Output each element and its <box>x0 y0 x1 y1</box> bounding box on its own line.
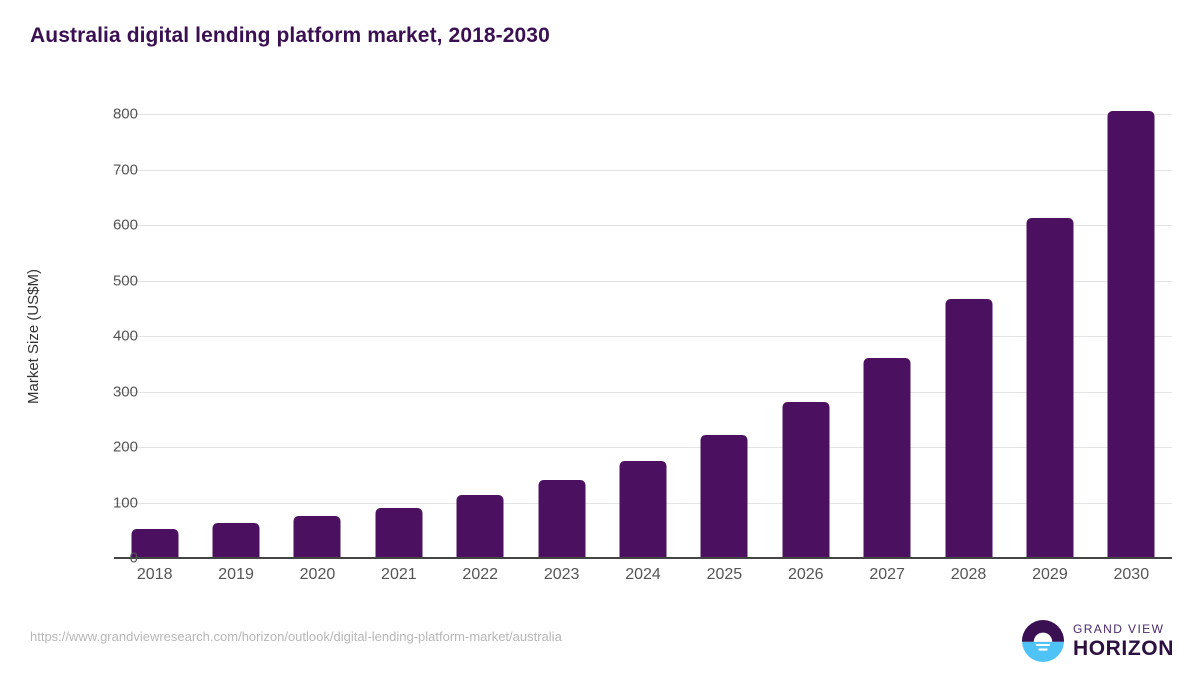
bar-2021[interactable] <box>375 508 422 559</box>
bar-2020[interactable] <box>294 516 341 558</box>
bar-slot <box>195 114 276 558</box>
x-axis-tick-label: 2026 <box>761 566 851 584</box>
y-axis-tick-label: 0 <box>78 550 138 567</box>
x-axis-tick-label: 2019 <box>191 566 281 584</box>
bar-slot <box>358 114 439 558</box>
logo-line-2: HORIZON <box>1073 638 1174 659</box>
bar-2018[interactable] <box>131 529 178 558</box>
logo-text: GRAND VIEW HORIZON <box>1073 623 1174 659</box>
y-axis-tick-label: 400 <box>78 328 138 345</box>
x-axis-tick-label: 2020 <box>272 566 362 584</box>
x-axis-tick-label: 2025 <box>679 566 769 584</box>
x-axis-tick-label: 2030 <box>1086 566 1176 584</box>
y-axis-title: Market Size (US$M) <box>22 114 46 558</box>
x-axis-tick-label: 2027 <box>842 566 932 584</box>
bar-slot <box>765 114 846 558</box>
bar-slot <box>602 114 683 558</box>
bar-slot <box>684 114 765 558</box>
bar-slot <box>521 114 602 558</box>
chart-page: Australia digital lending platform marke… <box>0 0 1200 675</box>
brand-logo: GRAND VIEW HORIZON <box>1022 620 1174 662</box>
y-axis-tick-label: 800 <box>78 106 138 123</box>
bar-2025[interactable] <box>701 435 748 558</box>
source-url[interactable]: https://www.grandviewresearch.com/horizo… <box>30 629 562 644</box>
y-axis-tick-label: 200 <box>78 439 138 456</box>
x-axis-tick-label: 2018 <box>110 566 200 584</box>
bar-slot <box>277 114 358 558</box>
x-axis-tick-label: 2029 <box>1005 566 1095 584</box>
x-axis-tick-label: 2021 <box>354 566 444 584</box>
bar-slot <box>928 114 1009 558</box>
x-axis-tick-label: 2022 <box>435 566 525 584</box>
y-axis-tick-label: 100 <box>78 494 138 511</box>
bar-slot <box>846 114 927 558</box>
y-axis-tick-label: 600 <box>78 217 138 234</box>
bar-series <box>114 114 1172 558</box>
y-axis-title-label: Market Size (US$M) <box>26 268 43 403</box>
bar-2029[interactable] <box>1026 218 1073 558</box>
page-title: Australia digital lending platform marke… <box>30 24 550 48</box>
x-axis-line <box>114 557 1172 559</box>
y-axis-tick-label: 500 <box>78 272 138 289</box>
bar-slot <box>1009 114 1090 558</box>
x-axis-tick-label: 2024 <box>598 566 688 584</box>
grand-view-horizon-logo-mark-icon <box>1022 620 1064 662</box>
bar-2028[interactable] <box>945 299 992 558</box>
bar-2023[interactable] <box>538 480 585 558</box>
logo-line-1: GRAND VIEW <box>1073 623 1174 635</box>
bar-slot <box>1091 114 1172 558</box>
bar-2027[interactable] <box>864 358 911 558</box>
y-axis-tick-label: 700 <box>78 161 138 178</box>
bar-2026[interactable] <box>782 402 829 558</box>
bar-2019[interactable] <box>213 523 260 558</box>
bar-slot <box>440 114 521 558</box>
bar-2022[interactable] <box>457 495 504 558</box>
plot-area <box>114 114 1172 558</box>
x-axis-tick-label: 2023 <box>517 566 607 584</box>
x-axis-tick-label: 2028 <box>924 566 1014 584</box>
bar-2030[interactable] <box>1108 111 1155 558</box>
y-axis-tick-label: 300 <box>78 383 138 400</box>
bar-2024[interactable] <box>619 461 666 558</box>
